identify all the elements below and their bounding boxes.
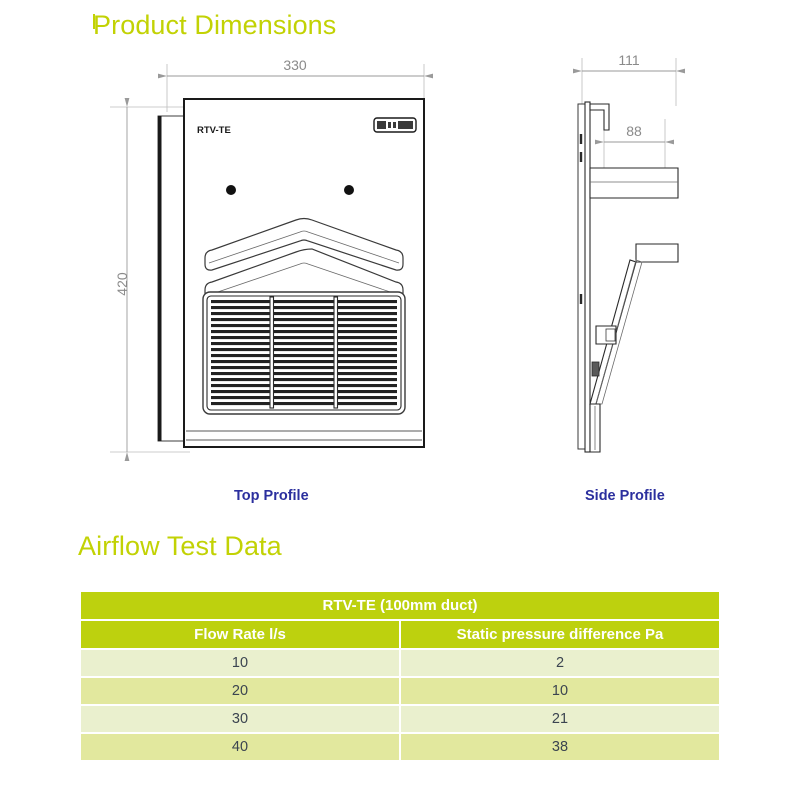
grille-assembly bbox=[203, 292, 405, 414]
technical-drawing-svg: 330 420 bbox=[0, 44, 800, 514]
side-upper-block bbox=[636, 244, 678, 262]
table-row: 10 2 bbox=[81, 650, 719, 676]
side-mid-bracket bbox=[596, 326, 616, 344]
table-row: 30 21 bbox=[81, 706, 719, 732]
cell-flow-rate: 10 bbox=[81, 650, 399, 676]
caption-top-profile: Top Profile bbox=[234, 488, 309, 504]
product-drawing-area: 330 420 bbox=[0, 44, 800, 514]
brand-logo-badge bbox=[374, 118, 416, 132]
cell-static-pressure: 10 bbox=[401, 678, 719, 704]
column-header-static-pressure: Static pressure difference Pa bbox=[401, 621, 719, 648]
model-label-rtv-te: RTV-TE bbox=[197, 125, 231, 136]
cell-flow-rate: 20 bbox=[81, 678, 399, 704]
top-profile-drawing: 330 420 bbox=[110, 57, 424, 452]
cell-static-pressure: 2 bbox=[401, 650, 719, 676]
dimension-label-111: 111 bbox=[618, 52, 639, 68]
page-title-product-dimensions: Product Dimensions bbox=[93, 10, 336, 41]
fixing-screw-left bbox=[226, 185, 236, 195]
back-plate-flange bbox=[158, 116, 185, 441]
table-title-cell: RTV-TE (100mm duct) bbox=[81, 592, 719, 619]
dimension-label-330: 330 bbox=[283, 57, 307, 73]
side-clip bbox=[592, 362, 599, 376]
side-top-lip bbox=[590, 104, 609, 130]
table-row: 40 38 bbox=[81, 734, 719, 760]
fixing-screw-right bbox=[344, 185, 354, 195]
side-lower-skirt bbox=[590, 404, 600, 452]
table-row: 20 10 bbox=[81, 678, 719, 704]
dimension-label-420: 420 bbox=[114, 272, 130, 296]
table-body: RTV-TE (100mm duct) Flow Rate l/s Static… bbox=[81, 592, 719, 760]
cell-static-pressure: 38 bbox=[401, 734, 719, 760]
caption-side-profile: Side Profile bbox=[585, 488, 665, 504]
dimension-depth-88: 88 bbox=[604, 119, 665, 169]
dimension-depth-111: 111 bbox=[582, 52, 676, 106]
cell-flow-rate: 40 bbox=[81, 734, 399, 760]
column-header-flow-rate: Flow Rate l/s bbox=[81, 621, 399, 648]
side-profile-drawing: 111 88 bbox=[578, 52, 678, 452]
page-title-airflow-test-data: Airflow Test Data bbox=[78, 531, 282, 562]
dimension-label-88: 88 bbox=[626, 123, 642, 139]
table-title-row: RTV-TE (100mm duct) bbox=[81, 592, 719, 619]
side-hood-body bbox=[590, 168, 678, 198]
side-rear-plate bbox=[578, 102, 590, 452]
datasheet-page: Product Dimensions 330 bbox=[0, 0, 800, 800]
cell-flow-rate: 30 bbox=[81, 706, 399, 732]
airflow-test-data-table: RTV-TE (100mm duct) Flow Rate l/s Static… bbox=[79, 590, 721, 762]
cell-static-pressure: 21 bbox=[401, 706, 719, 732]
table-header-row: Flow Rate l/s Static pressure difference… bbox=[81, 621, 719, 648]
